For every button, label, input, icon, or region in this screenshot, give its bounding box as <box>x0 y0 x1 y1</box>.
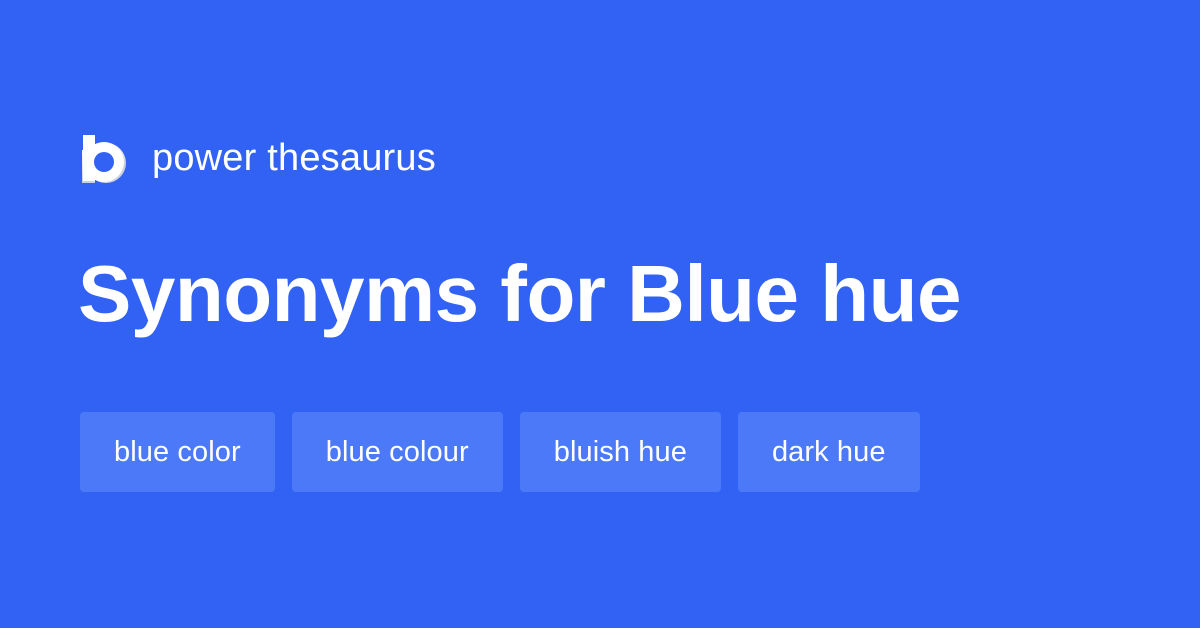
power-thesaurus-b-logo-icon <box>80 132 130 184</box>
synonym-chip[interactable]: dark hue <box>738 412 920 492</box>
brand-name: power thesaurus <box>152 139 436 177</box>
share-card: power thesaurus Synonyms for Blue hue bl… <box>0 0 1200 628</box>
synonym-chip-list: blue color blue colour bluish hue dark h… <box>80 412 920 492</box>
synonym-chip[interactable]: blue color <box>80 412 275 492</box>
synonym-chip[interactable]: blue colour <box>292 412 503 492</box>
synonym-chip[interactable]: bluish hue <box>520 412 721 492</box>
brand-lockup[interactable]: power thesaurus <box>80 131 436 185</box>
page-title: Synonyms for Blue hue <box>78 247 961 341</box>
